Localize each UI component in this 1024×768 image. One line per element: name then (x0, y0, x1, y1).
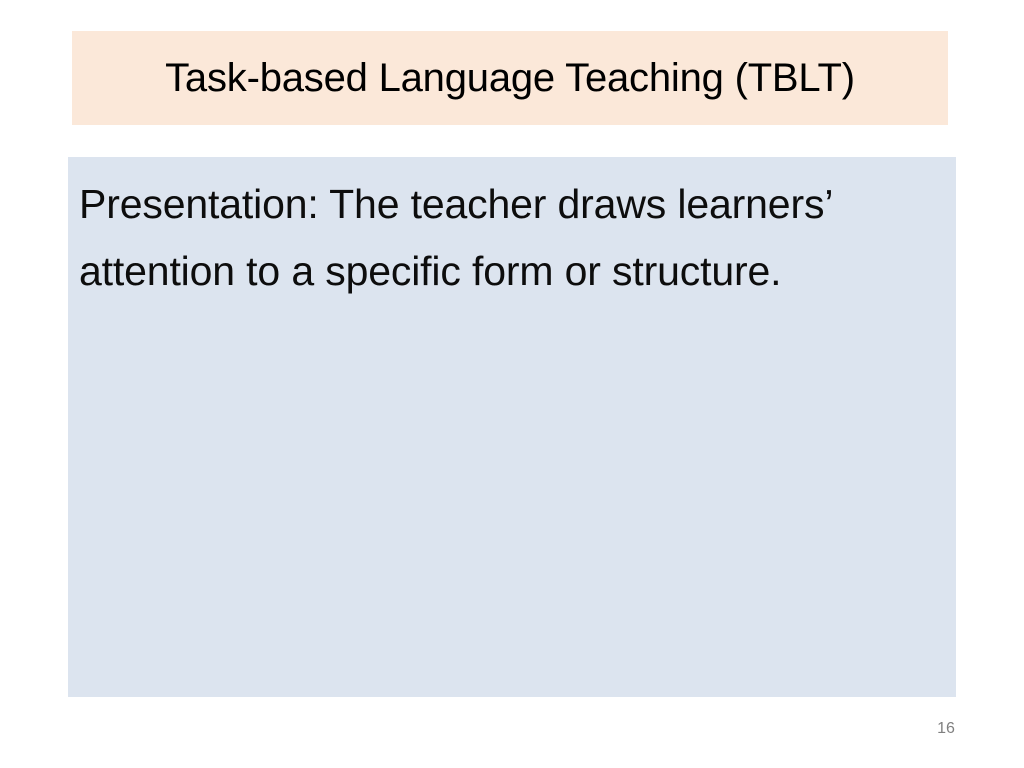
slide-title-placeholder[interactable]: Task-based Language Teaching (TBLT) (72, 31, 948, 125)
presentation-slide: Task-based Language Teaching (TBLT) Pres… (0, 0, 1024, 768)
page-title: Task-based Language Teaching (TBLT) (165, 57, 855, 99)
slide-number: 16 (916, 720, 976, 738)
slide-content-placeholder[interactable]: Presentation: The teacher draws learners… (68, 157, 956, 697)
slide-body-text: Presentation: The teacher draws learners… (79, 171, 946, 305)
